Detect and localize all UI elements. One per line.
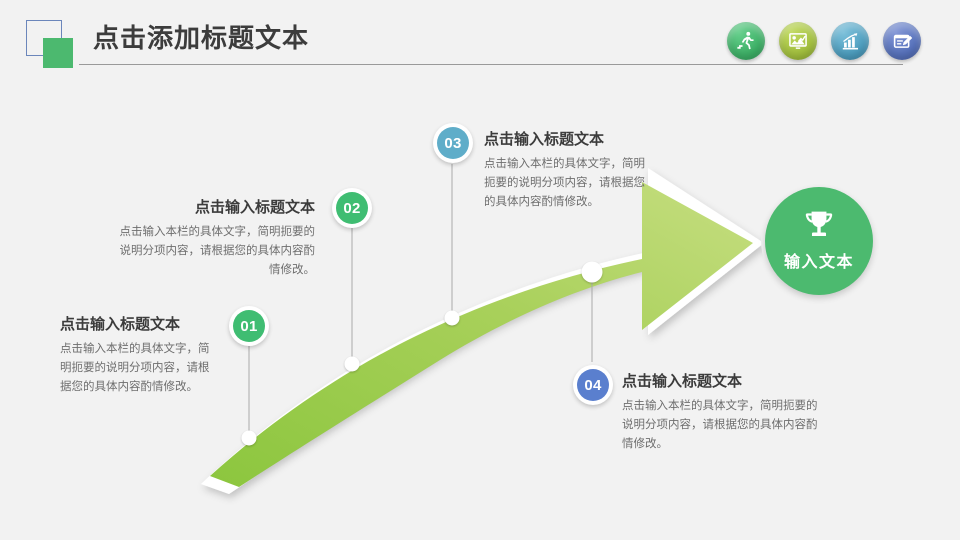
step-badge-02[interactable]: 02 [332, 188, 372, 228]
connector-line-03 [452, 164, 453, 318]
step-badge-03-inner: 03 [437, 127, 469, 159]
step-badge-03[interactable]: 03 [433, 123, 473, 163]
step-text-04: 点击输入标题文本 点击输入本栏的具体文字，简明扼要的说明分项内容，请根据您的具体… [622, 372, 818, 454]
page-title: 点击添加标题文本 [93, 20, 309, 56]
step-body-02: 点击输入本栏的具体文字，简明扼要的说明分项内容，请根据您的具体内容酌情修改。 [113, 223, 315, 280]
header-divider [79, 64, 903, 65]
slide-canvas: 点击添加标题文本 [0, 0, 960, 540]
presentation-chart-icon[interactable] [779, 22, 817, 60]
step-title-01: 点击输入标题文本 [60, 315, 218, 335]
step-body-03: 点击输入本栏的具体文字，简明扼要的说明分项内容，请根据您的具体内容酌情修改。 [484, 155, 652, 212]
step-badge-01-number: 01 [240, 318, 257, 335]
connector-line-02 [352, 228, 353, 364]
goal-label: 输入文本 [784, 248, 854, 272]
trophy-icon [802, 210, 836, 245]
goal-circle[interactable]: 输入文本 [765, 187, 873, 295]
step-body-01: 点击输入本栏的具体文字，简明扼要的说明分项内容，请根据您的具体内容酌情修改。 [60, 340, 218, 397]
step-title-03: 点击输入标题文本 [484, 130, 652, 150]
step-title-02: 点击输入标题文本 [113, 198, 315, 218]
step-title-04: 点击输入标题文本 [622, 372, 818, 392]
connector-line-04 [592, 272, 593, 362]
step-badge-04-number: 04 [584, 377, 601, 394]
step-badge-02-number: 02 [343, 200, 360, 217]
step-badge-04[interactable]: 04 [573, 365, 613, 405]
arrow-node-dot-03 [445, 311, 460, 326]
edit-form-icon[interactable] [883, 22, 921, 60]
step-text-01: 点击输入标题文本 点击输入本栏的具体文字，简明扼要的说明分项内容，请根据您的具体… [60, 315, 218, 397]
arrow-node-dot-02 [345, 357, 360, 372]
step-badge-02-inner: 02 [336, 192, 368, 224]
running-person-icon[interactable] [727, 22, 765, 60]
step-badge-03-number: 03 [444, 135, 461, 152]
step-body-04: 点击输入本栏的具体文字，简明扼要的说明分项内容，请根据您的具体内容酌情修改。 [622, 397, 818, 454]
header-solid-square [43, 38, 73, 68]
arrow-node-dot-04 [582, 262, 603, 283]
header-icon-group [727, 22, 921, 60]
step-text-02: 点击输入标题文本 点击输入本栏的具体文字，简明扼要的说明分项内容，请根据您的具体… [113, 198, 315, 280]
bar-chart-icon[interactable] [831, 22, 869, 60]
connector-line-01 [249, 342, 250, 438]
step-badge-04-inner: 04 [577, 369, 609, 401]
arrow-node-dot-01 [242, 431, 257, 446]
step-badge-01-inner: 01 [233, 310, 265, 342]
step-text-03: 点击输入标题文本 点击输入本栏的具体文字，简明扼要的说明分项内容，请根据您的具体… [484, 130, 652, 212]
step-badge-01[interactable]: 01 [229, 306, 269, 346]
